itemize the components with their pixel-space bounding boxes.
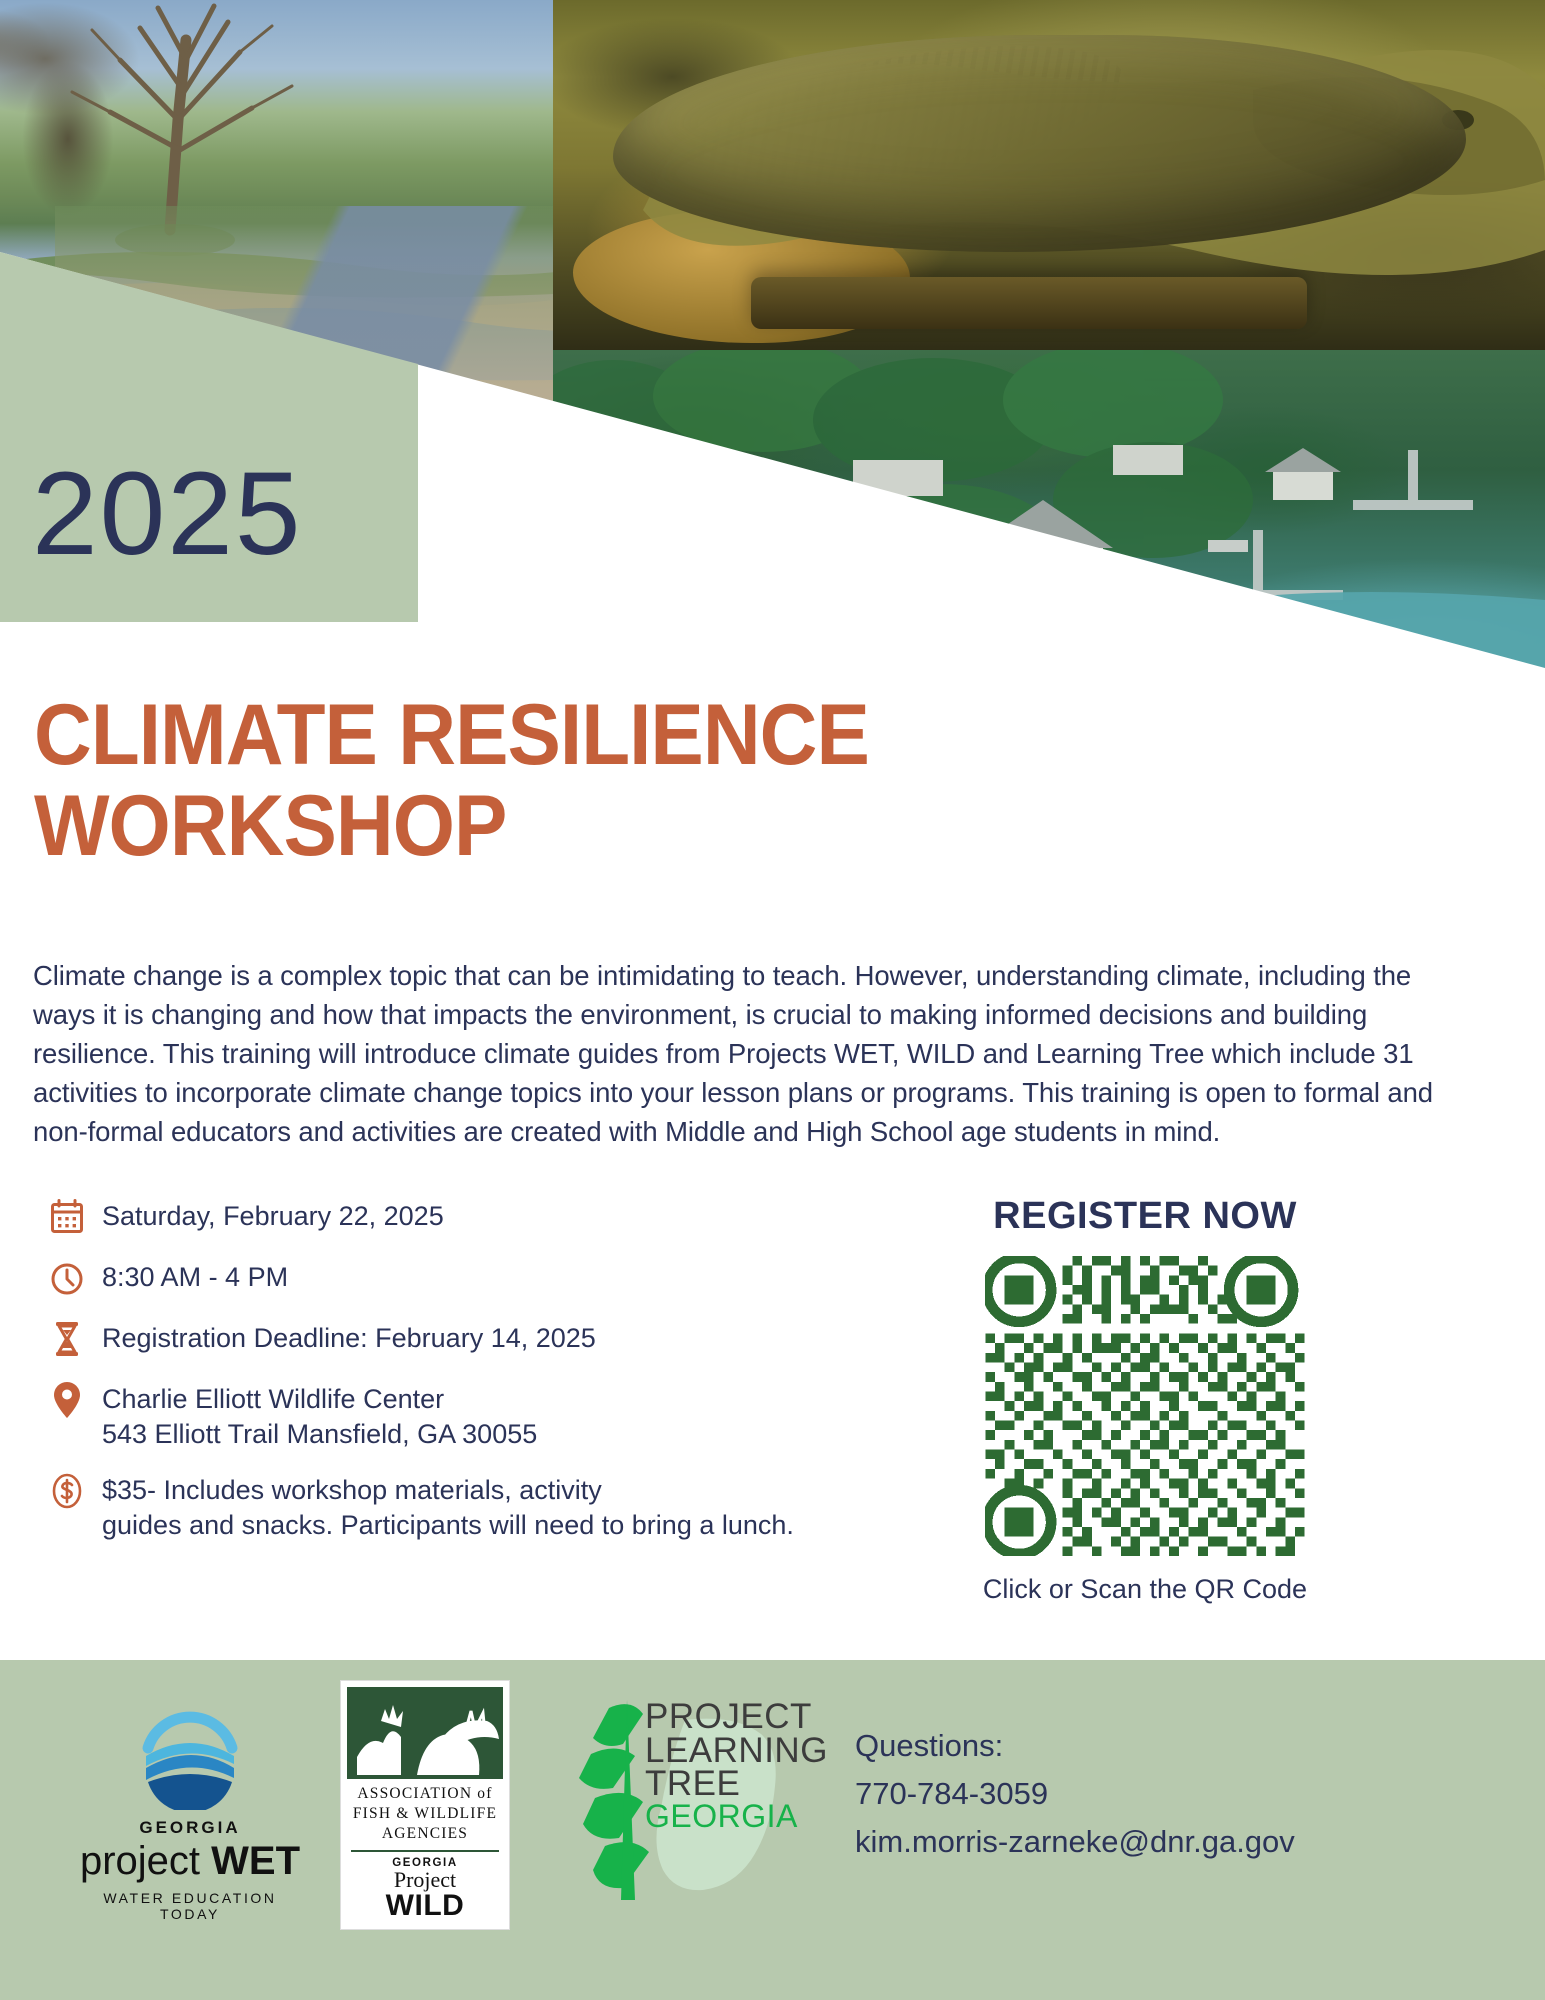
register-section: REGISTER NOW [930,1195,1360,1605]
plt-wordmark: PROJECT LEARNING TREE GEORGIA [645,1700,828,1832]
logo-divider [351,1850,499,1852]
project-wet-word-wet: WET [211,1839,300,1883]
project-wet-georgia: GEORGIA [75,1818,305,1838]
project-wet-word-project: project [80,1839,211,1883]
clock-icon [50,1256,102,1300]
detail-row-price: $35- Includes workshop materials, activi… [50,1469,880,1543]
price-line-1: $35- Includes workshop materials, activi… [102,1475,602,1505]
plt-word-tree: TREE [645,1767,828,1801]
afwa-line-1: ASSOCIATION of [347,1785,503,1803]
contact-block: Questions: 770-784-3059 kim.morris-zarne… [855,1722,1295,1866]
event-details-list: Saturday, February 22, 2025 8:30 AM - 4 … [50,1195,880,1560]
afwa-wildlife-art-icon [347,1687,503,1779]
location-name: Charlie Elliott Wildlife Center [102,1384,444,1414]
footer-bar: GEORGIA project WET WATER EDUCATION TODA… [0,1660,1545,2000]
contact-label: Questions: [855,1722,1295,1770]
page-title: CLIMATE RESILIENCE WORKSHOP [34,690,983,872]
afwa-line-3: AGENCIES [347,1825,503,1843]
headline-line-2: WORKSHOP [34,781,983,872]
afwa-line-2: FISH & WILDLIFE [347,1805,503,1823]
plt-word-learning: LEARNING [645,1734,828,1768]
salamander-silhouette [553,0,1545,350]
intro-paragraph: Climate change is a complex topic that c… [33,956,1463,1151]
year-label: 2025 [32,455,303,573]
logo-project-wet: GEORGIA project WET WATER EDUCATION TODA… [75,1690,305,1922]
detail-row-time: 8:30 AM - 4 PM [50,1256,880,1300]
photo-hellbender-salamander [553,0,1545,350]
project-wild-word-project: Project [347,1869,503,1891]
detail-row-location: Charlie Elliott Wildlife Center 543 Elli… [50,1378,880,1452]
detail-row-deadline: Registration Deadline: February 14, 2025 [50,1317,880,1361]
location-address: 543 Elliott Trail Mansfield, GA 30055 [102,1417,537,1452]
calendar-icon [50,1195,102,1239]
detail-text-time: 8:30 AM - 4 PM [102,1256,288,1295]
qr-code[interactable] [985,1256,1305,1556]
qr-caption: Click or Scan the QR Code [930,1574,1360,1605]
plt-word-project: PROJECT [645,1700,828,1734]
headline-line-1: CLIMATE RESILIENCE [34,690,983,781]
register-now-heading: REGISTER NOW [930,1195,1360,1238]
contact-email[interactable]: kim.morris-zarneke@dnr.ga.gov [855,1818,1295,1866]
detail-row-date: Saturday, February 22, 2025 [50,1195,880,1239]
logo-project-learning-tree: PROJECT LEARNING TREE GEORGIA [565,1690,825,1920]
project-wet-wordmark: project WET [75,1840,305,1882]
detail-text-deadline: Registration Deadline: February 14, 2025 [102,1317,596,1356]
price-line-2: guides and snacks. Participants will nee… [102,1508,794,1543]
project-wild-word-wild: WILD [347,1891,503,1921]
contact-phone[interactable]: 770-784-3059 [855,1770,1295,1818]
project-wet-mark-icon [130,1690,250,1810]
logo-project-wild: ASSOCIATION of FISH & WILDLIFE AGENCIES … [340,1680,510,1930]
poster-canvas: 2025 CLIMATE RESILIENCE WORKSHOP Climate… [0,0,1545,2000]
detail-text-date: Saturday, February 22, 2025 [102,1195,444,1234]
plt-word-georgia: GEORGIA [645,1801,828,1832]
detail-text-price: $35- Includes workshop materials, activi… [102,1469,794,1543]
project-wet-tagline: WATER EDUCATION TODAY [75,1890,305,1922]
hourglass-icon [50,1317,102,1361]
location-pin-icon [50,1378,102,1422]
qr-code-graphic[interactable] [985,1256,1305,1556]
detail-text-location: Charlie Elliott Wildlife Center 543 Elli… [102,1378,537,1452]
dollar-circle-icon [50,1469,102,1513]
